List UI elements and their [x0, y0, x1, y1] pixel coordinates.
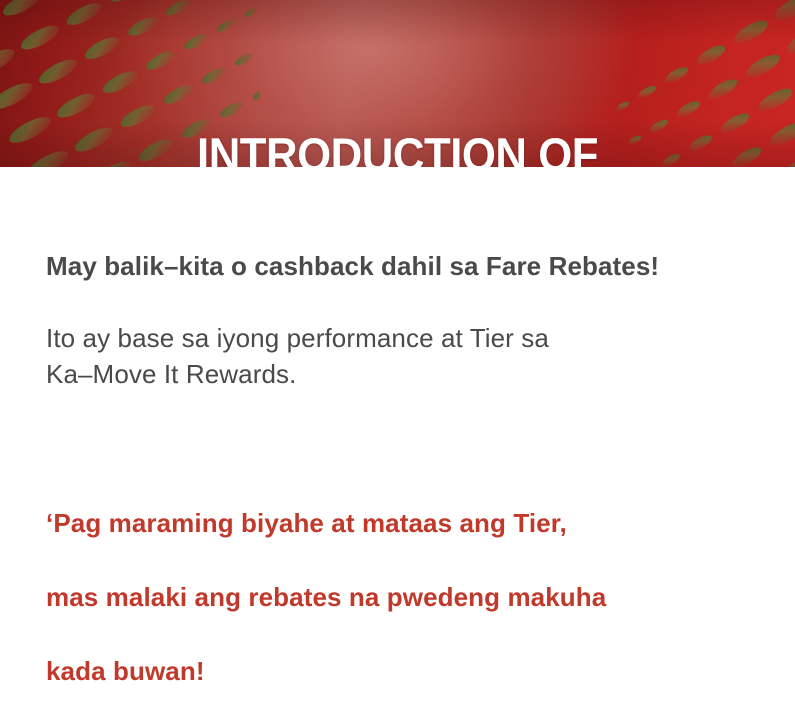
content-area: May balik–kita o cashback dahil sa Fare …	[46, 212, 756, 727]
hero-banner: INTRODUCTION OF FARE REBATES!	[0, 0, 795, 167]
highlight-line-1: ‘Pag maraming biyahe at mataas ang Tier,	[46, 505, 756, 542]
page-title-line-1: INTRODUCTION OF	[28, 128, 767, 167]
highlight-line-3: kada buwan!	[46, 653, 756, 690]
intro-lead-line: May balik–kita o cashback dahil sa Fare …	[46, 248, 756, 284]
intro-paragraph: May balik–kita o cashback dahil sa Fare …	[46, 212, 756, 428]
highlight-paragraph: ‘Pag maraming biyahe at mataas ang Tier,…	[46, 468, 756, 727]
intro-rest-lines: Ito ay base sa iyong performance at Tier…	[46, 320, 756, 392]
page-title: INTRODUCTION OF FARE REBATES!	[28, 22, 767, 167]
highlight-line-2: mas malaki ang rebates na pwedeng makuha	[46, 579, 756, 616]
